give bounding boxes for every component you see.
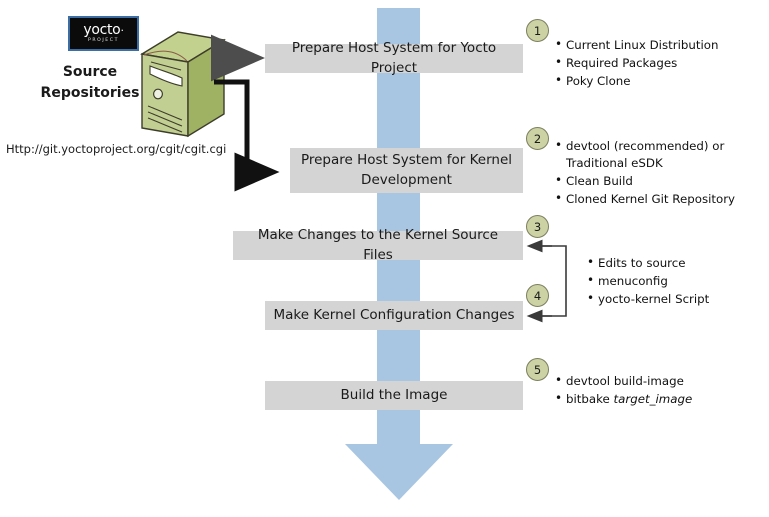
step-number-5: 5 (526, 358, 549, 381)
process-box-step-1[interactable]: Prepare Host System for Yocto Project (265, 44, 523, 73)
note-item: yocto-kernel Script (598, 291, 765, 308)
notes-step-5: devtool build-image bitbake target_image (553, 373, 763, 409)
logo-subtext: PROJECT (88, 39, 119, 44)
note-item: Required Packages (566, 55, 763, 72)
note-command-prefix: bitbake (566, 392, 614, 406)
note-item: Cloned Kernel Git Repository (566, 191, 767, 208)
yocto-project-logo: yocto· PROJECT (68, 16, 139, 51)
server-tower-icon (134, 28, 226, 140)
source-repository-url: Http://git.yoctoproject.org/cgit/cgit.cg… (6, 142, 226, 156)
note-item: Clean Build (566, 173, 767, 190)
process-box-step-2[interactable]: Prepare Host System for Kernel Developme… (290, 148, 523, 193)
logo-dot: · (120, 24, 123, 37)
step-number-3: 3 (526, 215, 549, 238)
note-command-argument: target_image (614, 392, 693, 406)
process-box-step-5[interactable]: Build the Image (265, 381, 523, 410)
workflow-diagram: yocto· PROJECT Source Repositories Http:… (0, 0, 769, 517)
process-box-step-4[interactable]: Make Kernel Configuration Changes (265, 301, 523, 330)
step-number-1: 1 (526, 19, 549, 42)
logo-wordmark-text: yocto (83, 22, 120, 38)
process-box-step-3[interactable]: Make Changes to the Kernel Source Files (233, 231, 523, 260)
notes-step-1: Current Linux Distribution Required Pack… (553, 37, 763, 91)
note-item: menuconfig (598, 273, 765, 290)
note-item: bitbake target_image (566, 391, 763, 408)
note-item: Poky Clone (566, 73, 763, 90)
note-item: Edits to source (598, 255, 765, 272)
notes-step-2: devtool (recommended) or Traditional eSD… (553, 138, 767, 209)
logo-wordmark: yocto· (83, 23, 123, 37)
note-item: Current Linux Distribution (566, 37, 763, 54)
step-number-2: 2 (526, 127, 549, 150)
source-label-line-1: Source (38, 62, 142, 83)
step-number-4: 4 (526, 284, 549, 307)
backbone-arrow-head (345, 444, 453, 500)
source-repositories-label: Source Repositories (38, 62, 142, 104)
note-item: devtool build-image (566, 373, 763, 390)
notes-steps-3-and-4: Edits to source menuconfig yocto-kernel … (585, 255, 765, 309)
source-label-line-2: Repositories (38, 83, 142, 104)
note-item: devtool (recommended) or Traditional eSD… (566, 138, 767, 172)
